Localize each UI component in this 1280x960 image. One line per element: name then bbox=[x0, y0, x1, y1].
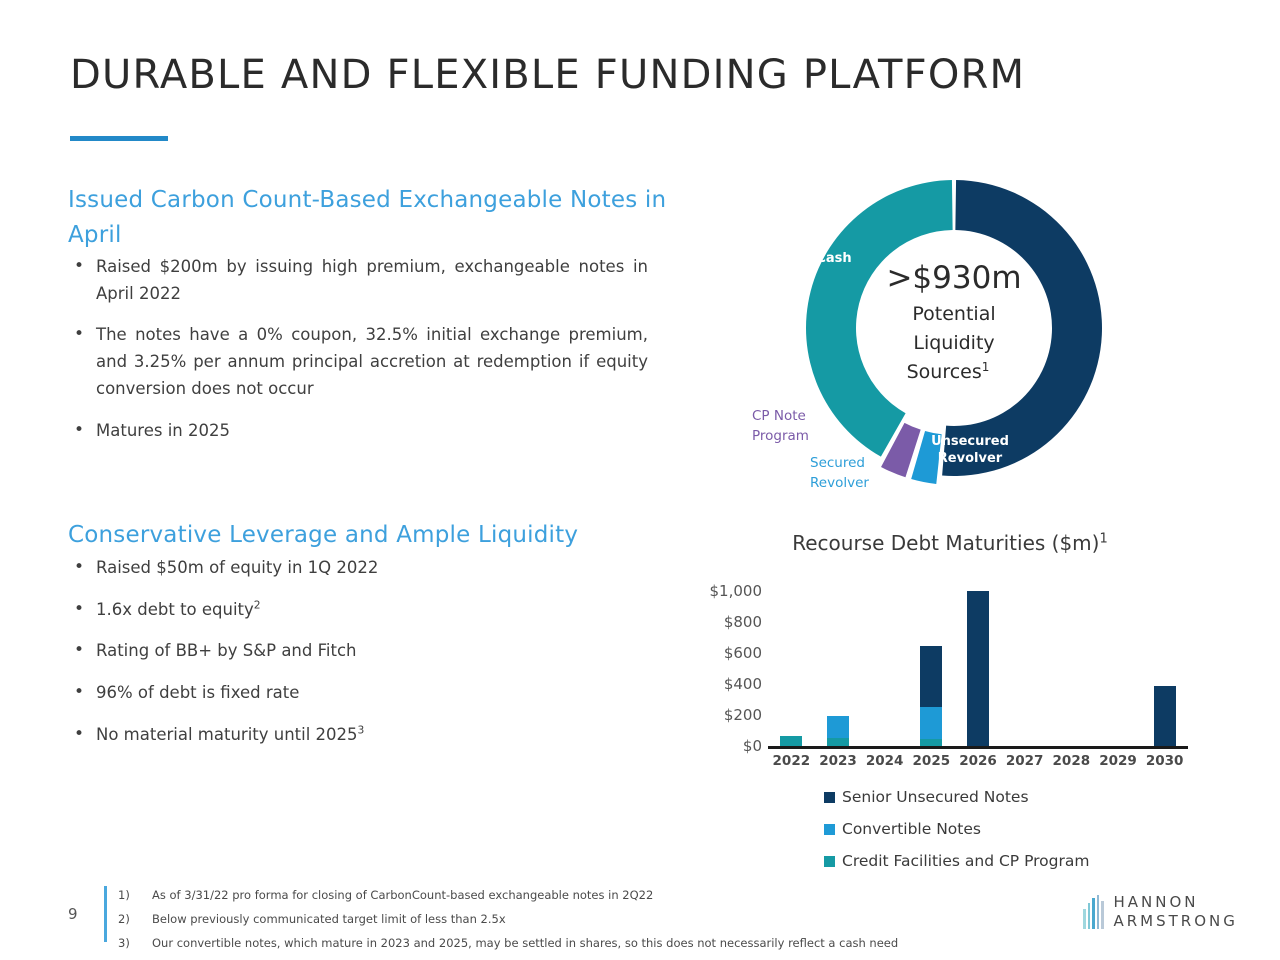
x-axis-tick-label: 2030 bbox=[1142, 753, 1188, 769]
bar-column[interactable] bbox=[780, 736, 802, 746]
page-title: DURABLE AND FLEXIBLE FUNDING PLATFORM bbox=[70, 52, 1025, 98]
list-item: 96% of debt is fixed rate bbox=[68, 680, 648, 707]
bar-segment bbox=[920, 707, 942, 739]
logo-bar-icon bbox=[1092, 898, 1095, 929]
bar-plot-area bbox=[768, 583, 1188, 746]
legend-swatch-icon bbox=[824, 792, 835, 803]
bar-chart-legend: Senior Unsecured NotesConvertible NotesC… bbox=[824, 788, 1204, 884]
list-item: 1.6x debt to equity2 bbox=[68, 597, 648, 624]
donut-center-line-3-text: Sources bbox=[907, 361, 982, 383]
section-heading-issued-notes: Issued Carbon Count-Based Exchangeable N… bbox=[68, 183, 668, 252]
donut-label-unsecured-revolver-line2: Revolver bbox=[938, 451, 1003, 466]
donut-center-line-1: Potential bbox=[912, 303, 995, 325]
list-item-text: 1.6x debt to equity bbox=[96, 600, 254, 619]
footnote-accent-bar bbox=[104, 886, 107, 942]
x-axis-tick-label: 2027 bbox=[1002, 753, 1048, 769]
footnote-text: Our convertible notes, which mature in 2… bbox=[152, 935, 898, 953]
y-axis-tick-label: $1,000 bbox=[692, 582, 762, 600]
bar-chart-title-text: Recourse Debt Maturities ($m) bbox=[792, 531, 1099, 555]
footnote-text: As of 3/31/22 pro forma for closing of C… bbox=[152, 887, 653, 905]
donut-label-unsecured-revolver: Unsecured bbox=[931, 434, 1009, 449]
donut-center-value: >$930m bbox=[886, 260, 1021, 296]
donut-center-line-3: Sources1 bbox=[907, 360, 990, 383]
bar-segment bbox=[920, 739, 942, 746]
list-item-footnote-ref: 3 bbox=[358, 723, 365, 736]
y-axis-tick-label: $600 bbox=[692, 644, 762, 662]
x-axis-tick-label: 2028 bbox=[1048, 753, 1094, 769]
donut-label-cp-note-program-line2: Program bbox=[752, 428, 809, 444]
list-item-text: No material maturity until 2025 bbox=[96, 725, 358, 744]
logo-bars-icon bbox=[1083, 895, 1106, 929]
title-underline-rule bbox=[70, 136, 168, 141]
y-axis-tick-label: $800 bbox=[692, 613, 762, 631]
legend-label: Convertible Notes bbox=[842, 820, 981, 838]
x-axis-tick-label: 2025 bbox=[908, 753, 954, 769]
logo-text: HANNON ARMSTRONG bbox=[1114, 893, 1238, 931]
logo-bar-icon bbox=[1097, 895, 1100, 929]
bar-segment bbox=[920, 646, 942, 707]
donut-svg: >$930m Potential Liquidity Sources1 Cash… bbox=[748, 142, 1160, 508]
bar-column[interactable] bbox=[1154, 686, 1176, 746]
recourse-debt-maturities-bar-chart: $0$200$400$600$800$1,000 202220232024202… bbox=[690, 575, 1200, 775]
list-item-text: Raised $50m of equity in 1Q 2022 bbox=[96, 558, 378, 577]
x-axis-tick-label: 2024 bbox=[862, 753, 908, 769]
list-item-text: 96% of debt is fixed rate bbox=[96, 683, 299, 702]
list-item: Rating of BB+ by S&P and Fitch bbox=[68, 638, 648, 665]
footnote-number: 1) bbox=[118, 887, 152, 905]
footnote-row: 3)Our convertible notes, which mature in… bbox=[118, 935, 1018, 953]
donut-label-cash: Cash bbox=[816, 251, 851, 266]
bar-segment bbox=[1154, 686, 1176, 746]
y-axis-tick-label: $0 bbox=[692, 737, 762, 755]
list-item: No material maturity until 20253 bbox=[68, 722, 648, 749]
bar-column[interactable] bbox=[827, 716, 849, 746]
donut-label-cp-note-program: CP Note bbox=[752, 408, 806, 424]
legend-swatch-icon bbox=[824, 856, 835, 867]
logo-line-2: ARMSTRONG bbox=[1114, 912, 1238, 931]
legend-item[interactable]: Credit Facilities and CP Program bbox=[824, 852, 1204, 870]
list-item-footnote-ref: 2 bbox=[254, 598, 261, 611]
legend-item[interactable]: Senior Unsecured Notes bbox=[824, 788, 1204, 806]
x-axis-tick-label: 2029 bbox=[1095, 753, 1141, 769]
donut-label-secured-revolver-line2: Revolver bbox=[810, 475, 869, 491]
y-axis-tick-label: $200 bbox=[692, 706, 762, 724]
bar-segment bbox=[780, 736, 802, 746]
legend-item[interactable]: Convertible Notes bbox=[824, 820, 1204, 838]
bar-segment bbox=[827, 716, 849, 739]
list-item: The notes have a 0% coupon, 32.5% initia… bbox=[68, 322, 648, 402]
bar-column[interactable] bbox=[967, 591, 989, 746]
x-axis-tick-label: 2023 bbox=[815, 753, 861, 769]
bullet-list-issued-notes: Raised $200m by issuing high premium, ex… bbox=[68, 254, 648, 459]
x-axis-line bbox=[768, 746, 1188, 749]
list-item-text: Rating of BB+ by S&P and Fitch bbox=[96, 641, 356, 660]
legend-label: Credit Facilities and CP Program bbox=[842, 852, 1089, 870]
legend-label: Senior Unsecured Notes bbox=[842, 788, 1029, 806]
list-item: Matures in 2025 bbox=[68, 418, 648, 445]
footnote-row: 2)Below previously communicated target l… bbox=[118, 911, 1018, 929]
donut-label-secured-revolver: Secured bbox=[810, 455, 865, 471]
footnote-number: 2) bbox=[118, 911, 152, 929]
footnote-list: 1)As of 3/31/22 pro forma for closing of… bbox=[118, 887, 1018, 958]
section-heading-leverage: Conservative Leverage and Ample Liquidit… bbox=[68, 518, 668, 553]
page-number: 9 bbox=[68, 905, 78, 923]
list-item: Raised $200m by issuing high premium, ex… bbox=[68, 254, 648, 307]
x-axis-tick-label: 2026 bbox=[955, 753, 1001, 769]
bar-column[interactable] bbox=[920, 646, 942, 746]
bar-segment bbox=[827, 738, 849, 746]
bar-chart-title: Recourse Debt Maturities ($m)1 bbox=[700, 531, 1200, 555]
logo-bar-icon bbox=[1101, 901, 1104, 929]
donut-center-footnote-ref: 1 bbox=[982, 360, 990, 374]
logo-bar-icon bbox=[1088, 903, 1091, 929]
donut-center-line-2: Liquidity bbox=[913, 332, 994, 354]
donut-slice-unsecured-revolver[interactable] bbox=[942, 180, 1102, 476]
y-axis-tick-label: $400 bbox=[692, 675, 762, 693]
logo-bar-icon bbox=[1083, 909, 1086, 929]
logo-line-1: HANNON bbox=[1114, 893, 1238, 912]
bar-chart-title-footnote-ref: 1 bbox=[1099, 531, 1107, 546]
list-item: Raised $50m of equity in 1Q 2022 bbox=[68, 555, 648, 582]
liquidity-sources-donut-chart: >$930m Potential Liquidity Sources1 Cash… bbox=[748, 142, 1160, 508]
hannon-armstrong-logo: HANNON ARMSTRONG bbox=[1083, 893, 1238, 931]
footnote-text: Below previously communicated target lim… bbox=[152, 911, 506, 929]
legend-swatch-icon bbox=[824, 824, 835, 835]
bullet-list-leverage: Raised $50m of equity in 1Q 2022 1.6x de… bbox=[68, 555, 648, 764]
bar-segment bbox=[967, 591, 989, 746]
footnote-row: 1)As of 3/31/22 pro forma for closing of… bbox=[118, 887, 1018, 905]
footnote-number: 3) bbox=[118, 935, 152, 953]
x-axis-tick-label: 2022 bbox=[768, 753, 814, 769]
